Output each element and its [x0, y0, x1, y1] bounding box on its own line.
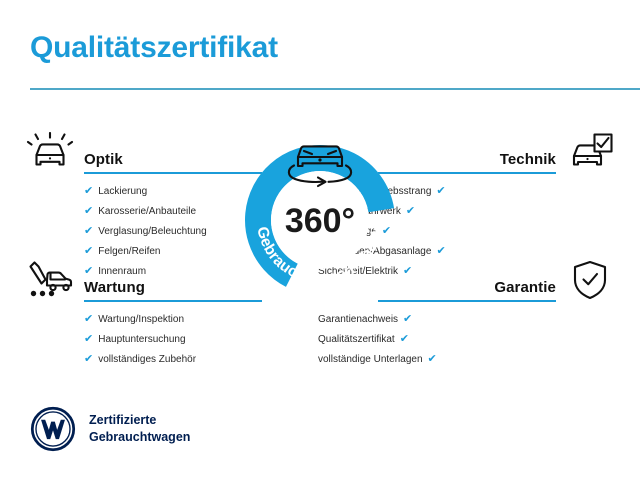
volkswagen-logo [30, 406, 76, 452]
list-item: ✔ Garantienachweis [318, 314, 556, 325]
list-item-label: Lackierung [98, 187, 147, 197]
title-divider [30, 88, 640, 90]
list-item-label: Hauptuntersuchung [98, 335, 185, 345]
check-icon: ✔ [436, 246, 445, 257]
section-title-optik: Optik [84, 151, 123, 168]
shield-check-icon [562, 258, 618, 302]
check-icon: ✔ [436, 186, 445, 197]
list-item: ✔ Hauptuntersuchung [84, 334, 322, 345]
check-icon: ✔ [84, 334, 93, 345]
list-item-label: Qualitätszertifikat [318, 335, 395, 345]
badge-360-gebrauchtwagen-check: Gebrauchtwagen-Check 360° [232, 115, 408, 305]
car-service-dipstick-icon [22, 258, 78, 302]
check-icon: ✔ [403, 314, 412, 325]
list-item-label: vollständiges Zubehör [98, 355, 196, 365]
list-item: ✔ Qualitätszertifikat [318, 334, 556, 345]
page-title: Qualitätszertifikat [30, 33, 278, 63]
check-icon: ✔ [84, 246, 93, 257]
section-list-garantie: ✔ Garantienachweis ✔ Qualitätszertifikat… [318, 314, 556, 365]
section-title-wartung: Wartung [84, 279, 145, 296]
check-icon: ✔ [84, 314, 93, 325]
list-item-label: Verglasung/Beleuchtung [98, 227, 206, 237]
list-item: ✔ vollständige Unterlagen [318, 354, 556, 365]
car-shine-icon [22, 130, 78, 174]
car-checkbox-icon [562, 130, 618, 174]
footer-brand: Zertifizierte Gebrauchtwagen [30, 406, 190, 452]
list-item-label: vollständige Unterlagen [318, 355, 423, 365]
check-icon: ✔ [84, 206, 93, 217]
check-icon: ✔ [84, 226, 93, 237]
list-item: ✔ vollständiges Zubehör [84, 354, 322, 365]
list-item-label: Felgen/Reifen [98, 247, 160, 257]
badge-center-label: 360° [285, 202, 355, 240]
check-icon: ✔ [428, 354, 437, 365]
check-icon: ✔ [84, 186, 93, 197]
check-icon: ✔ [84, 354, 93, 365]
list-item: ✔ Wartung/Inspektion [84, 314, 322, 325]
list-item-label: Karosserie/Anbauteile [98, 207, 196, 217]
section-title-garantie: Garantie [494, 279, 556, 296]
check-icon: ✔ [400, 334, 409, 345]
list-item-label: Garantienachweis [318, 315, 398, 325]
certificate-page: Qualitätszertifikat Optik ✔ Lackierung [0, 0, 640, 480]
footer-text: Zertifizierte Gebrauchtwagen [89, 412, 190, 446]
list-item-label: Wartung/Inspektion [98, 315, 184, 325]
section-list-wartung: ✔ Wartung/Inspektion ✔ Hauptuntersuchung… [84, 314, 322, 365]
section-title-technik: Technik [500, 151, 556, 168]
